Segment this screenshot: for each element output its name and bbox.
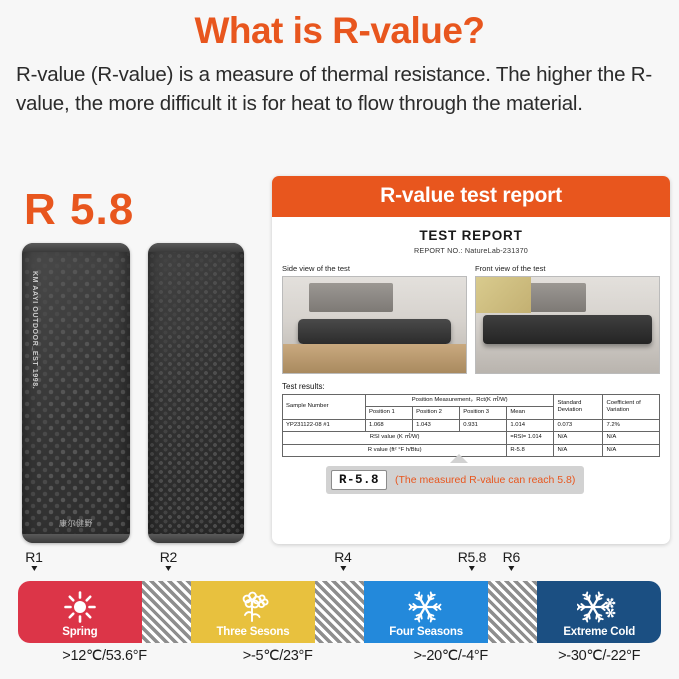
th-sd: Standard Deviation xyxy=(554,395,603,420)
test-machine-shape xyxy=(309,283,393,312)
scale-segment-gap-3 xyxy=(488,581,537,643)
test-machine-shape-2 xyxy=(502,283,586,312)
th-pos1: Position 1 xyxy=(365,407,412,419)
th-pos2: Position 2 xyxy=(413,407,460,419)
scale-ticks: R1R2R4R5.8R6 xyxy=(0,549,679,581)
scale-segment-three-seasons: Three Sesons xyxy=(191,581,315,643)
td-rsi-label: RSI value (K ㎡/W) xyxy=(283,432,507,444)
temperature-scale-bar: SpringThree SesonsFour SeasonsExtreme Co… xyxy=(18,581,661,643)
tick-label: R5.8 xyxy=(458,549,486,565)
th-position-group: Position Measurement，Rct(K ㎡/W) xyxy=(365,395,554,407)
scale-tick-r1: R1 xyxy=(25,549,42,571)
tick-label: R2 xyxy=(160,549,177,565)
tick-marker-icon xyxy=(165,566,171,571)
test-report-card: R-value test report TEST REPORT REPORT N… xyxy=(272,176,670,544)
table-header-row-1: Sample Number Position Measurement，Rct(K… xyxy=(283,395,660,407)
td-pos3: 0.931 xyxy=(460,419,507,431)
callout-arrow-icon xyxy=(450,454,468,463)
td-pos1: 1.068 xyxy=(365,419,412,431)
rvalue-callout: R-5.8 (The measured R-value can reach 5.… xyxy=(326,466,660,494)
temperature-label: >-30℃/-22°F xyxy=(537,648,661,664)
td-r-label: R value (ft² °F h/Btu) xyxy=(283,444,507,456)
rvalue-headline: R 5.8 xyxy=(24,185,134,235)
page-title: What is R-value? xyxy=(0,0,679,52)
side-view-caption: Side view of the test xyxy=(282,264,467,273)
th-sample: Sample Number xyxy=(283,395,366,420)
th-mean: Mean xyxy=(507,407,554,419)
scale-segment-extreme-cold: Extreme Cold xyxy=(537,581,661,643)
snowflake-icon xyxy=(408,590,444,631)
results-table: Sample Number Position Measurement，Rct(K… xyxy=(282,394,660,457)
callout-inner: R-5.8 (The measured R-value can reach 5.… xyxy=(326,466,584,494)
scale-segment-gap-2 xyxy=(315,581,364,643)
td-pos2: 1.043 xyxy=(413,419,460,431)
table-row-r: R value (ft² °F h/Btu) R-5.8 N/A N/A xyxy=(283,444,660,456)
scale-segment-four-seasons: Four Seasons xyxy=(364,581,488,643)
sleeping-pad-back xyxy=(148,243,244,543)
scale-tick-r2: R2 xyxy=(160,549,177,571)
tick-label: R6 xyxy=(503,549,520,565)
sun-icon xyxy=(63,590,97,629)
test-photos: Side view of the test Front view of the … xyxy=(282,264,660,374)
report-banner-title: R-value test report xyxy=(272,176,670,217)
th-cv: Coefficient of Variation xyxy=(603,395,660,420)
td-r-sd: N/A xyxy=(554,444,603,456)
snowflake-plus-icon xyxy=(577,590,621,631)
front-view-block: Front view of the test xyxy=(475,264,660,374)
callout-text: (The measured R-value can reach 5.8) xyxy=(395,474,575,486)
scale-tick-r5-8: R5.8 xyxy=(458,549,486,571)
temperature-labels: >12℃/53.6°F>-5℃/23°F>-20℃/-4°F>-30℃/-22°… xyxy=(18,648,661,664)
td-sd: 0.073 xyxy=(554,419,603,431)
scale-segment-gap-1 xyxy=(142,581,191,643)
tick-label: R1 xyxy=(25,549,42,565)
th-pos3: Position 3 xyxy=(460,407,507,419)
side-view-photo xyxy=(282,276,467,374)
td-sample: YP231122-08 #1 xyxy=(283,419,366,431)
front-view-photo xyxy=(475,276,660,374)
side-view-block: Side view of the test xyxy=(282,264,467,374)
td-rsi-sd: N/A xyxy=(554,432,603,444)
report-number: REPORT NO.: NatureLab-231370 xyxy=(282,246,660,255)
flower-icon xyxy=(235,590,271,629)
tick-marker-icon xyxy=(31,566,37,571)
temperature-label: >-20℃/-4°F xyxy=(364,648,537,664)
td-mean: 1.014 xyxy=(507,419,554,431)
infographic-page: What is R-value? R-value (R-value) is a … xyxy=(0,0,679,679)
intro-paragraph: R-value (R-value) is a measure of therma… xyxy=(0,52,679,118)
tick-label: R4 xyxy=(334,549,351,565)
td-r-mean: R-5.8 xyxy=(507,444,554,456)
pad-logo-text: 康尔健野 xyxy=(59,518,93,529)
front-view-caption: Front view of the test xyxy=(475,264,660,273)
results-label: Test results: xyxy=(282,382,660,391)
td-rsi-mean: =RSI= 1.014 xyxy=(507,432,554,444)
scale-segment-spring: Spring xyxy=(18,581,142,643)
temperature-label: >-5℃/23°F xyxy=(191,648,364,664)
temperature-label: >12℃/53.6°F xyxy=(18,648,191,664)
table-row: YP231122-08 #1 1.068 1.043 0.931 1.014 0… xyxy=(283,419,660,431)
pad-brand-text: KM AAYI OUTDOOR_EST 1998. xyxy=(31,271,38,389)
table-row-rsi: RSI value (K ㎡/W) =RSI= 1.014 N/A N/A xyxy=(283,432,660,444)
scale-tick-r6: R6 xyxy=(503,549,520,571)
td-rsi-cv: N/A xyxy=(603,432,660,444)
callout-badge: R-5.8 xyxy=(331,470,387,490)
td-r-cv: N/A xyxy=(603,444,660,456)
report-doc-title: TEST REPORT xyxy=(282,228,660,243)
scale-tick-r4: R4 xyxy=(334,549,351,571)
tick-marker-icon xyxy=(508,566,514,571)
tick-marker-icon xyxy=(469,566,475,571)
td-cv: 7.2% xyxy=(603,419,660,431)
sleeping-pad-front: KM AAYI OUTDOOR_EST 1998. 康尔健野 xyxy=(22,243,130,543)
tick-marker-icon xyxy=(340,566,346,571)
